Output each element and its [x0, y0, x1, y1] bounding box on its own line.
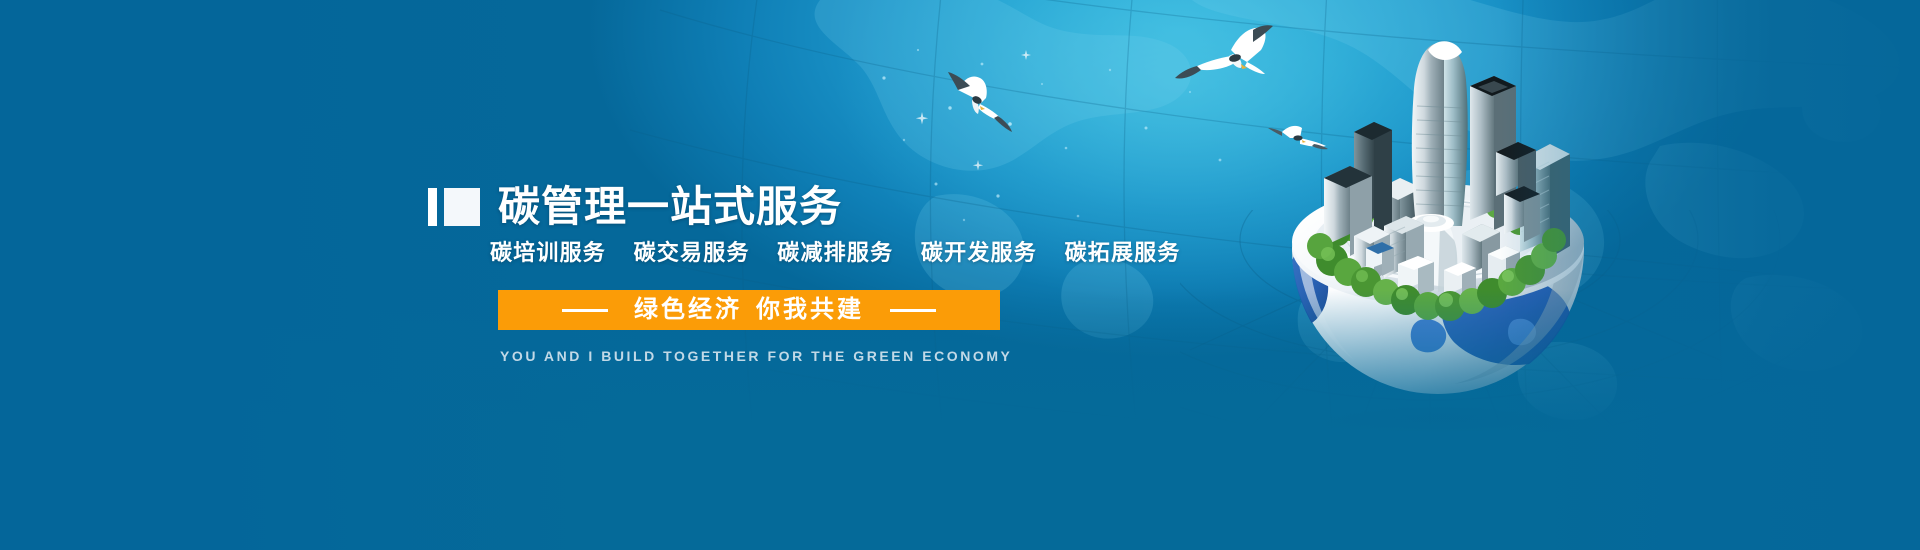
page-title: 碳管理一站式服务: [498, 186, 842, 228]
service-item-4: 碳拓展服务: [1065, 240, 1181, 265]
slogan-text: 绿色经济你我共建: [634, 298, 864, 322]
slogan-text-right: 你我共建: [756, 296, 864, 323]
slogan-left-rule: [562, 309, 608, 312]
slogan-right-rule: [890, 309, 936, 312]
logo-mark: [428, 188, 480, 226]
service-list: 碳培训服务 碳交易服务 碳减排服务 碳开发服务 碳拓展服务: [490, 240, 1181, 266]
service-item-0: 碳培训服务: [490, 240, 606, 265]
slogan-bar: 绿色经济你我共建: [498, 290, 1000, 330]
service-item-3: 碳开发服务: [921, 240, 1037, 265]
service-item-1: 碳交易服务: [634, 240, 750, 265]
title-row: 碳管理一站式服务: [428, 186, 842, 228]
logo-square-icon: [444, 188, 480, 226]
logo-bar-icon: [428, 188, 437, 226]
english-tagline: YOU AND I BUILD TOGETHER FOR THE GREEN E…: [500, 347, 1012, 365]
slogan-text-left: 绿色经济: [634, 296, 742, 323]
service-item-2: 碳减排服务: [777, 240, 893, 265]
hero-banner: 碳管理一站式服务 碳培训服务 碳交易服务 碳减排服务 碳开发服务 碳拓展服务 绿…: [0, 0, 1920, 550]
banner-content: 碳管理一站式服务 碳培训服务 碳交易服务 碳减排服务 碳开发服务 碳拓展服务 绿…: [0, 0, 1920, 550]
